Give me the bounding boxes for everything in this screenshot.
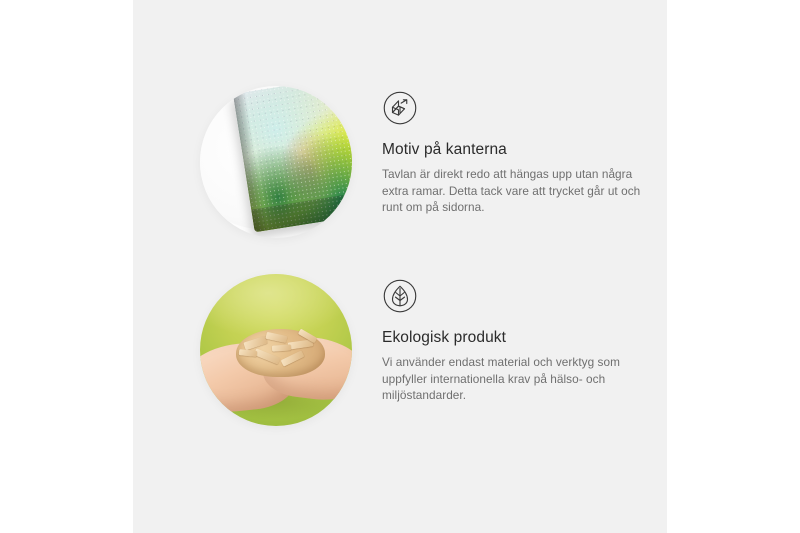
photo-circle-canvas <box>200 86 352 238</box>
wrapped-canvas-edge-icon <box>382 90 418 126</box>
leaf-icon <box>382 278 418 314</box>
feature-title: Ekologisk produkt <box>382 328 644 348</box>
wood-chip <box>272 345 292 353</box>
feature-copy-eko: Ekologisk produkt Vi använder endast mat… <box>382 278 644 404</box>
feature-body: Vi använder endast material och verktyg … <box>382 354 644 404</box>
canvas-print-corner-photo <box>200 86 352 238</box>
feature-copy-motiv: Motiv på kanterna Tavlan är direkt redo … <box>382 90 644 216</box>
wood-chip <box>280 350 304 366</box>
photo-circle-eco <box>200 274 352 426</box>
wood-chip <box>239 349 257 357</box>
hands-with-wood-chips-photo <box>200 274 352 426</box>
product-feature-banner: Motiv på kanterna Tavlan är direkt redo … <box>0 0 800 533</box>
feature-title: Motiv på kanterna <box>382 140 644 160</box>
wood-chips-pile <box>236 329 324 378</box>
feature-block-motiv-pa-kanterna: Motiv på kanterna Tavlan är direkt redo … <box>133 70 667 260</box>
wood-chip <box>266 331 288 342</box>
feature-block-ekologisk-produkt: Ekologisk produkt Vi använder endast mat… <box>133 258 667 448</box>
feature-body: Tavlan är direkt redo att hängas upp uta… <box>382 166 644 216</box>
feature-panel: Motiv på kanterna Tavlan är direkt redo … <box>133 0 667 533</box>
canvas-block <box>232 86 352 232</box>
